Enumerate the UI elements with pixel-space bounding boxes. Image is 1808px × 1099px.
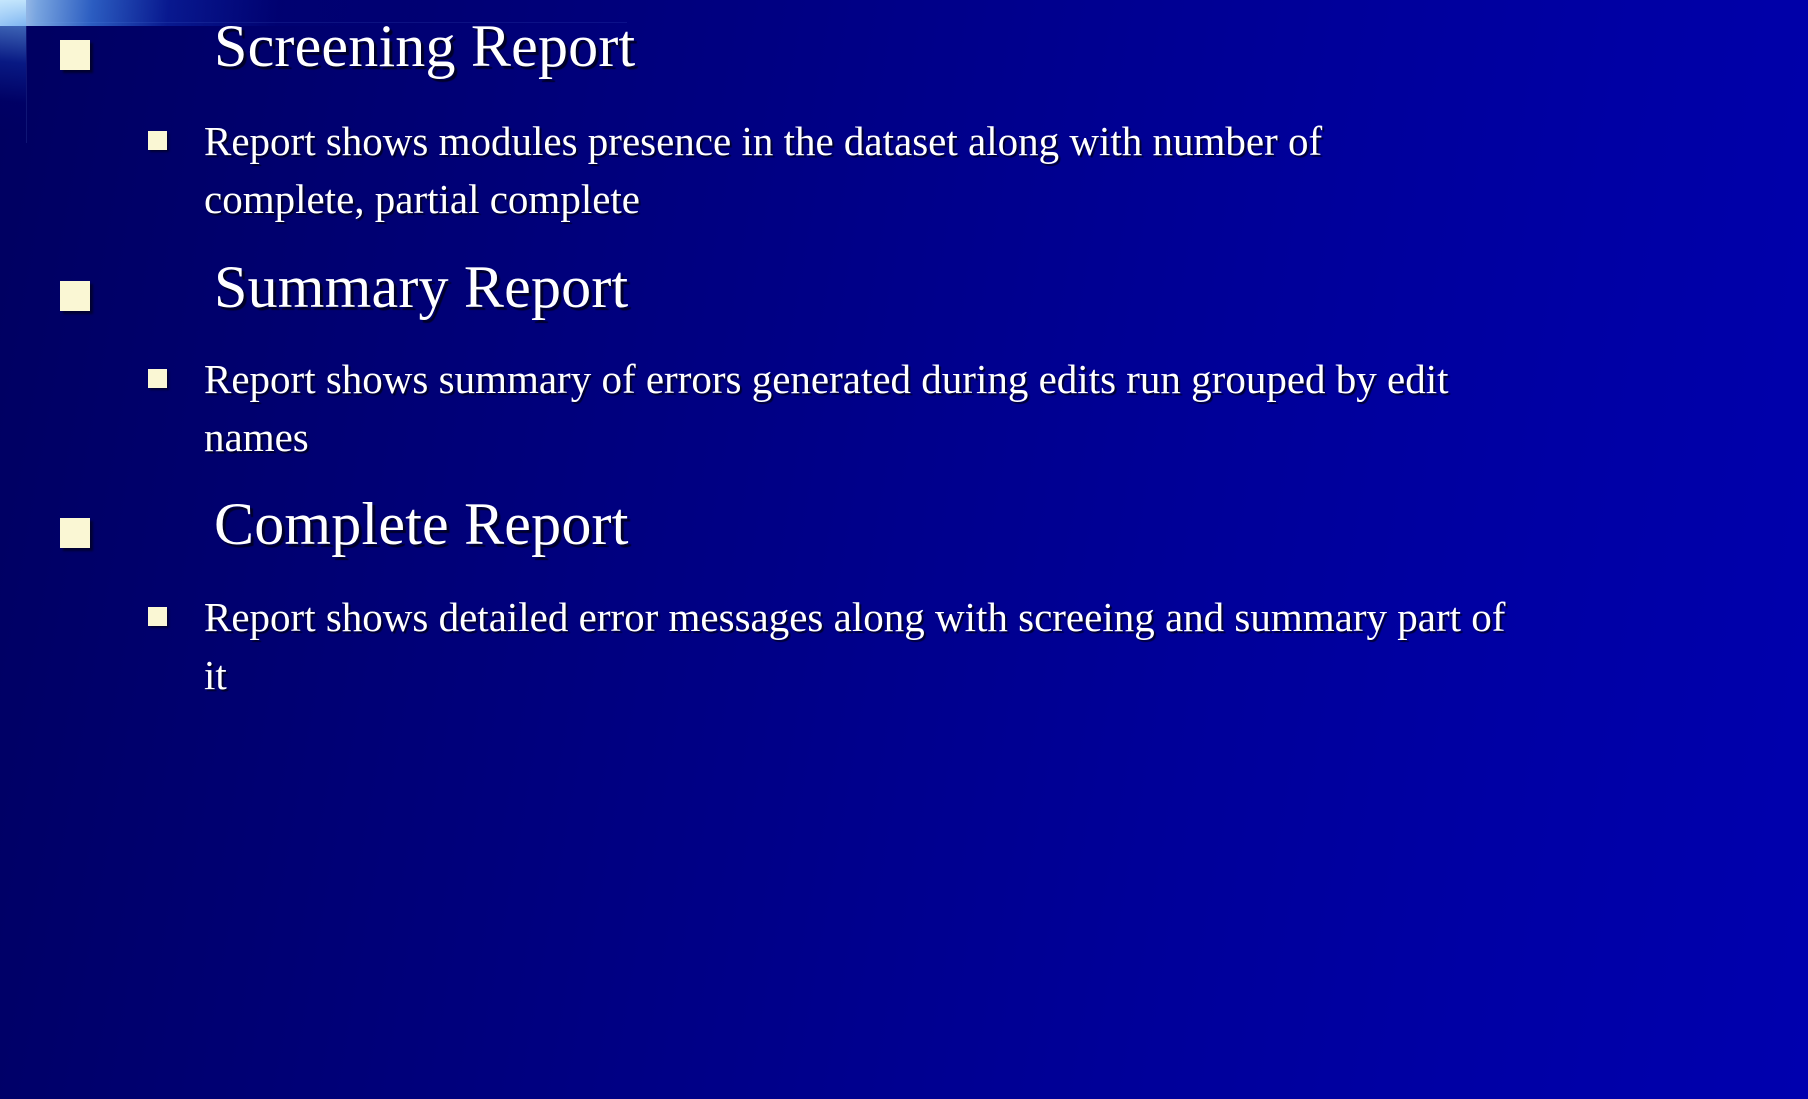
section-heading-row-summary: Summary Report: [0, 255, 1808, 320]
presentation-slide: Screening Report Report shows modules pr…: [0, 0, 1808, 1099]
square-sub-bullet-icon: [148, 369, 167, 388]
square-sub-bullet-icon: [148, 131, 167, 150]
section-body-row-screening: Report shows modules presence in the dat…: [0, 112, 1808, 228]
square-bullet-icon: [60, 281, 90, 311]
square-bullet-icon: [60, 518, 90, 548]
square-sub-bullet-icon: [148, 607, 167, 626]
section-heading-row-screening: Screening Report: [0, 14, 1808, 79]
section-heading-summary: Summary Report: [214, 255, 1808, 320]
section-body-row-complete: Report shows detailed error messages alo…: [0, 588, 1808, 704]
section-body-complete: Report shows detailed error messages alo…: [204, 588, 1534, 704]
section-heading-row-complete: Complete Report: [0, 492, 1808, 557]
section-body-row-summary: Report shows summary of errors generated…: [0, 350, 1808, 466]
section-heading-screening: Screening Report: [214, 14, 1808, 79]
section-heading-complete: Complete Report: [214, 492, 1808, 557]
section-body-summary: Report shows summary of errors generated…: [204, 350, 1534, 466]
square-bullet-icon: [60, 40, 90, 70]
section-body-screening: Report shows modules presence in the dat…: [204, 112, 1434, 228]
